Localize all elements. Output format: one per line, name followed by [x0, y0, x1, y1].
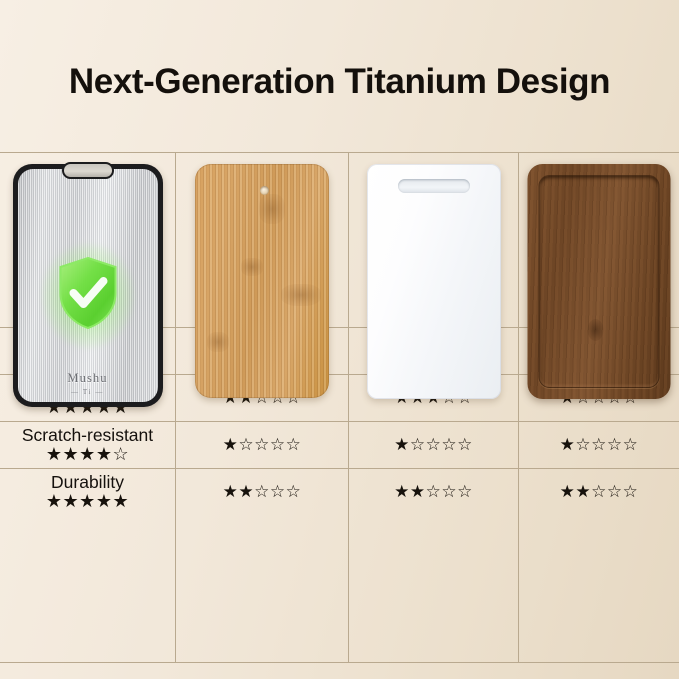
stars-plastic-durability: ★★☆☆☆ [394, 483, 473, 501]
attribute-label-scratch-resistant: Scratch-resistant [22, 426, 153, 444]
rating-row-durability-wood: ★★☆☆☆ [519, 468, 679, 515]
titanium-board-wrap: Mushu — Ti — [13, 164, 163, 407]
attribute-label-durability: Durability [51, 473, 124, 491]
bamboo-cutting-board-icon [195, 164, 329, 398]
rating-row-scratch-resistant-bamboo: ★☆☆☆☆ [176, 421, 348, 468]
wood-cutting-board-icon [528, 164, 671, 399]
titanium-handle-slot [62, 162, 114, 179]
rating-row-durability-plastic: ★★☆☆☆ [349, 468, 518, 515]
wood-board-image-cell [519, 153, 679, 279]
column-bamboo: Bamboo ★★☆☆☆ ★★☆☆☆ ★☆☆☆☆ ★★☆☆☆ [175, 153, 348, 662]
stars-bamboo-durability: ★★☆☆☆ [223, 483, 302, 501]
plastic-handle-slot [398, 179, 470, 193]
column-wood: Wood ★☆☆☆☆ ★☆☆☆☆ ★☆☆☆☆ ★★☆☆☆ [518, 153, 679, 662]
rating-row-durability-titanium: Durability ★★★★★ [0, 468, 175, 515]
stars-titanium-scratch-resistant: ★★★★☆ [46, 445, 129, 464]
rating-row-scratch-resistant-plastic: ★☆☆☆☆ [349, 421, 518, 468]
bamboo-hanging-hole [260, 186, 269, 195]
titanium-board-image-cell: Mushu — Ti — [0, 153, 175, 279]
plastic-board-image-cell [349, 153, 518, 279]
page-title: Next-Generation Titanium Design [0, 62, 679, 102]
column-plastic: Plastic ★★☆☆☆ ★★★☆☆ ★☆☆☆☆ ★★☆☆☆ [348, 153, 518, 662]
plastic-cutting-board-icon [367, 164, 501, 399]
green-shield-check-icon [57, 257, 118, 329]
titanium-cutting-board-icon: Mushu — Ti — [13, 164, 163, 407]
stars-plastic-scratch-resistant: ★☆☆☆☆ [394, 436, 473, 454]
stars-bamboo-scratch-resistant: ★☆☆☆☆ [223, 436, 302, 454]
bamboo-grain-mark [259, 194, 285, 224]
product-comparison-infographic: Next-Generation Titanium Design [0, 0, 679, 679]
column-titanium: Mushu — Ti — Titanium Antibacterial ★★★★… [0, 153, 175, 662]
bamboo-grain-mark [207, 332, 229, 352]
brand-name: Mushu [18, 371, 158, 386]
bamboo-board-image-cell [176, 153, 348, 279]
titanium-surface: Mushu — Ti — [18, 169, 158, 402]
stars-wood-durability: ★★☆☆☆ [560, 483, 639, 501]
bamboo-grain-mark [281, 284, 321, 306]
stars-titanium-durability: ★★★★★ [46, 492, 129, 511]
wood-board-wrap [528, 164, 671, 399]
comparison-table: Mushu — Ti — Titanium Antibacterial ★★★★… [0, 152, 679, 663]
rating-row-scratch-resistant-wood: ★☆☆☆☆ [519, 421, 679, 468]
wood-juice-groove [539, 175, 660, 388]
rating-row-scratch-resistant-titanium: Scratch-resistant ★★★★☆ [0, 421, 175, 468]
stars-wood-scratch-resistant: ★☆☆☆☆ [560, 436, 639, 454]
brand-subtitle: — Ti — [18, 388, 158, 396]
plastic-board-wrap [367, 164, 501, 399]
rating-row-durability-bamboo: ★★☆☆☆ [176, 468, 348, 515]
bamboo-grain-mark [241, 258, 263, 276]
bamboo-board-wrap [195, 164, 329, 398]
